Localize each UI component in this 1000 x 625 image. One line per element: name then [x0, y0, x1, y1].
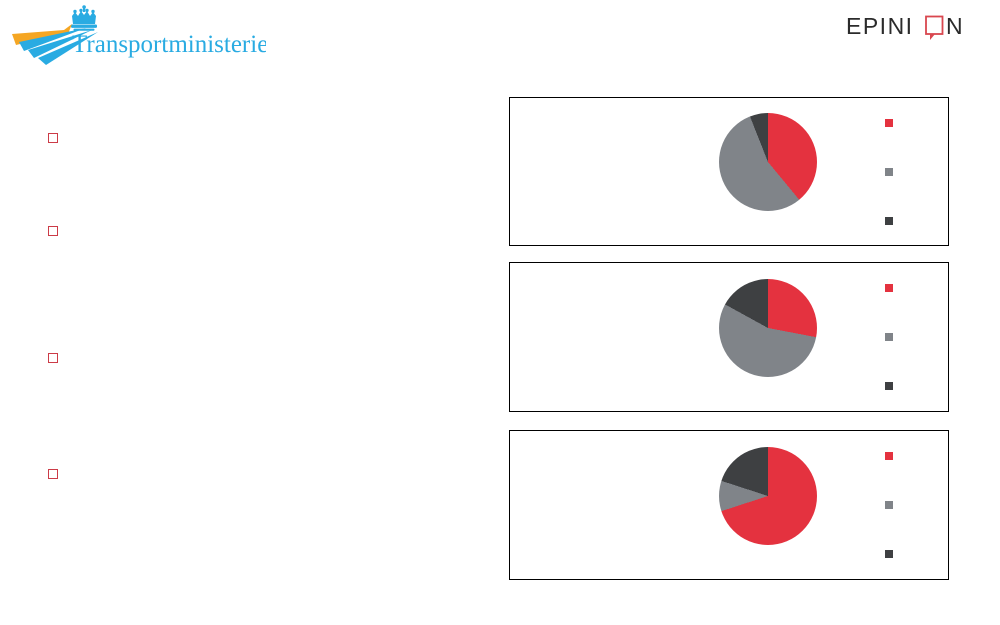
- pie-slices: [719, 279, 817, 377]
- pie-chart-panel-1: [509, 97, 949, 246]
- epinion-logo: EPINI N: [846, 12, 978, 42]
- list-item: [48, 351, 478, 363]
- epinion-text-before: EPINI: [846, 13, 914, 39]
- legend-item: [885, 217, 900, 225]
- square-bullet-icon: [48, 353, 58, 363]
- pie-chart-2: [719, 279, 817, 377]
- speech-bubble-icon: [926, 17, 943, 41]
- bullet-list: [0, 0, 500, 625]
- pie-chart-panel-3: [509, 430, 949, 580]
- pie-chart-3: [719, 447, 817, 545]
- legend-swatch-red: [885, 284, 893, 292]
- list-item: [48, 467, 478, 479]
- legend-2: [885, 263, 945, 411]
- legend-swatch-gray: [885, 501, 893, 509]
- list-item: [48, 224, 478, 236]
- legend-swatch-dark: [885, 217, 893, 225]
- legend-item: [885, 119, 900, 127]
- legend-swatch-dark: [885, 382, 893, 390]
- legend-item: [885, 168, 900, 176]
- legend-item: [885, 382, 900, 390]
- legend-1: [885, 98, 945, 245]
- pie-chart-panel-2: [509, 262, 949, 412]
- legend-item: [885, 501, 900, 509]
- legend-swatch-gray: [885, 168, 893, 176]
- list-item: [48, 131, 478, 143]
- square-bullet-icon: [48, 469, 58, 479]
- legend-item: [885, 333, 900, 341]
- pie-chart-1: [719, 113, 817, 211]
- square-bullet-icon: [48, 226, 58, 236]
- legend-swatch-red: [885, 119, 893, 127]
- legend-item: [885, 550, 900, 558]
- legend-item: [885, 284, 900, 292]
- legend-swatch-dark: [885, 550, 893, 558]
- legend-item: [885, 452, 900, 460]
- square-bullet-icon: [48, 133, 58, 143]
- pie-slices: [719, 447, 817, 545]
- legend-swatch-red: [885, 452, 893, 460]
- legend-3: [885, 431, 945, 579]
- pie-slices: [719, 113, 817, 211]
- epinion-text-after: N: [946, 13, 963, 39]
- legend-swatch-gray: [885, 333, 893, 341]
